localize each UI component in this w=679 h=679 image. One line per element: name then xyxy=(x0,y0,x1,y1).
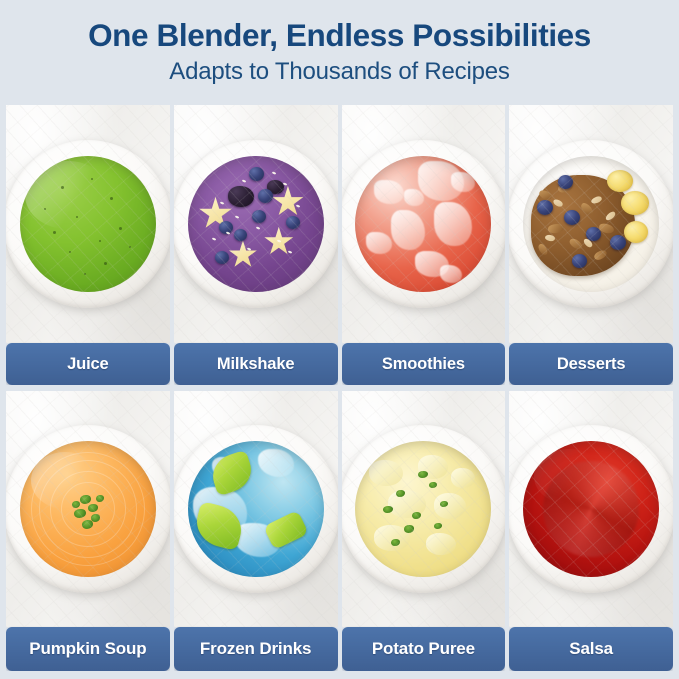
label-bar-desserts[interactable]: Desserts xyxy=(509,343,673,385)
recipe-cell-pumpkin-soup[interactable]: Pumpkin Soup xyxy=(6,391,170,671)
recipe-cell-juice[interactable]: Juice xyxy=(6,105,170,385)
label-text: Smoothies xyxy=(382,355,465,374)
bowl-icon xyxy=(174,425,338,593)
label-text: Desserts xyxy=(557,355,626,374)
photo-mashed-potato xyxy=(342,391,506,627)
label-bar-milkshake[interactable]: Milkshake xyxy=(174,343,338,385)
photo-granola-bowl xyxy=(509,105,673,343)
label-bar-salsa[interactable]: Salsa xyxy=(509,627,673,671)
header: One Blender, Endless Possibilities Adapt… xyxy=(0,0,679,104)
recipe-cell-smoothies[interactable]: Smoothies xyxy=(342,105,506,385)
recipe-cell-salsa[interactable]: Salsa xyxy=(509,391,673,671)
photo-acai-bowl xyxy=(174,105,338,343)
photo-red-salsa xyxy=(509,391,673,627)
label-text: Milkshake xyxy=(217,355,295,374)
recipe-grid: Juice xyxy=(6,105,673,671)
photo-blue-slush xyxy=(174,391,338,627)
label-text: Salsa xyxy=(569,639,613,659)
bowl-icon xyxy=(342,425,506,593)
bowl-icon xyxy=(509,140,673,308)
page-title: One Blender, Endless Possibilities xyxy=(0,15,679,55)
label-text: Frozen Drinks xyxy=(200,639,311,659)
recipe-cell-frozen-drinks[interactable]: Frozen Drinks xyxy=(174,391,338,671)
bowl-icon xyxy=(174,140,338,308)
bowl-icon xyxy=(6,425,170,593)
recipe-cell-desserts[interactable]: Desserts xyxy=(509,105,673,385)
bowl-icon xyxy=(509,425,673,593)
recipe-cell-potato-puree[interactable]: Potato Puree xyxy=(342,391,506,671)
label-bar-frozen-drinks[interactable]: Frozen Drinks xyxy=(174,627,338,671)
photo-green-juice xyxy=(6,105,170,343)
label-text: Pumpkin Soup xyxy=(29,639,146,659)
label-text: Potato Puree xyxy=(372,639,475,659)
promo-banner: One Blender, Endless Possibilities Adapt… xyxy=(0,0,679,679)
page-subtitle: Adapts to Thousands of Recipes xyxy=(0,55,679,88)
label-bar-smoothies[interactable]: Smoothies xyxy=(342,343,506,385)
label-text: Juice xyxy=(67,355,108,374)
label-bar-juice[interactable]: Juice xyxy=(6,343,170,385)
recipe-cell-milkshake[interactable]: Milkshake xyxy=(174,105,338,385)
label-bar-pumpkin-soup[interactable]: Pumpkin Soup xyxy=(6,627,170,671)
bowl-icon xyxy=(342,140,506,308)
photo-crushed-ice xyxy=(342,105,506,343)
photo-orange-soup xyxy=(6,391,170,627)
label-bar-potato-puree[interactable]: Potato Puree xyxy=(342,627,506,671)
bowl-icon xyxy=(6,140,170,308)
